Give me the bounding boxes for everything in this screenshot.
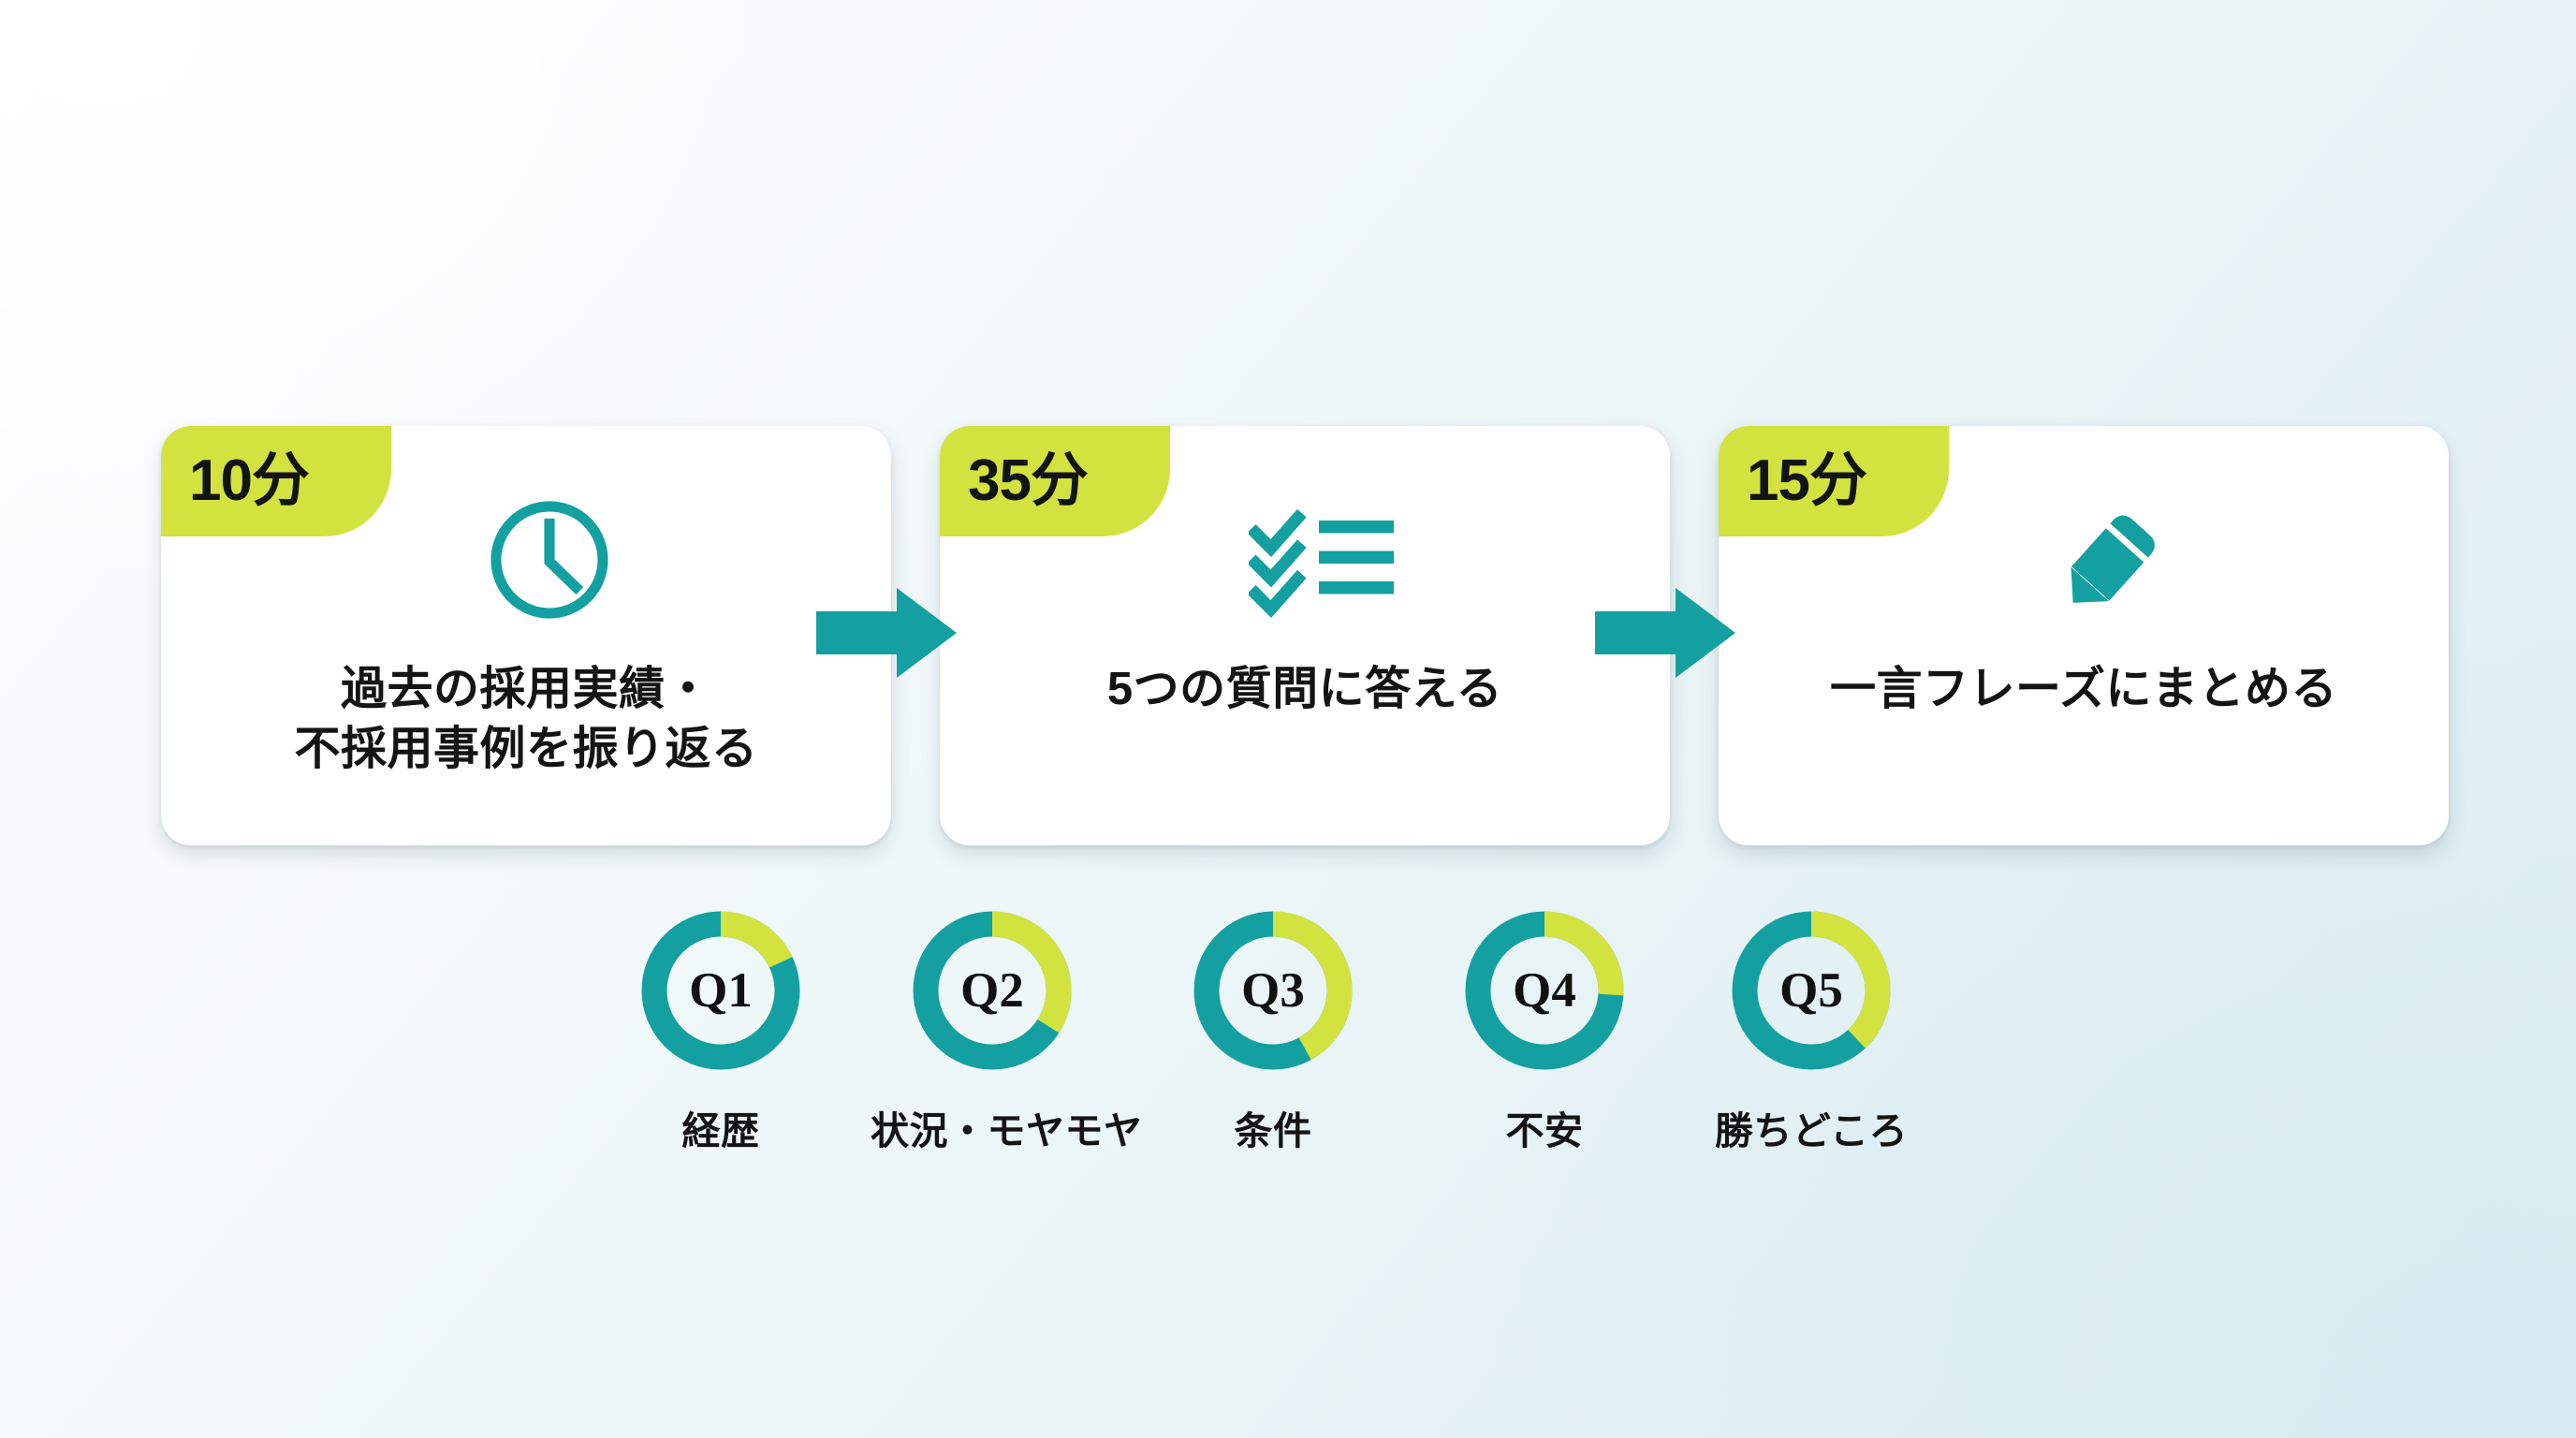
question-item-q3[interactable]: Q3 条件 [1151,906,1395,1155]
question-number-q1: Q1 [637,906,805,1075]
question-number-q4: Q4 [1460,906,1629,1075]
step-line: 過去の採用実績・ [195,660,857,720]
steps-row: 10分 過去の採用実績・ 不採用事例を振り返る 35分 [0,426,2576,857]
step-icon-wrap-3 [1719,482,2449,641]
step-icon-wrap-2 [940,482,1670,641]
progress-ring-q2: Q2 [908,906,1076,1075]
pencil-icon [2048,496,2175,628]
step-line: 5つの質問に答える [973,660,1636,720]
question-number-q3: Q3 [1189,906,1357,1075]
step-line: 不採用事例を振り返る [195,720,857,780]
step-icon-wrap-1 [161,482,891,641]
question-number-q2: Q2 [908,906,1076,1075]
progress-ring-q1: Q1 [637,906,805,1075]
question-item-q2[interactable]: Q2 状況・モヤモヤ [871,906,1114,1155]
question-item-q5[interactable]: Q5 勝ちどころ [1690,906,1933,1155]
clock-icon [480,491,619,634]
arrow-right-icon [1595,580,1735,685]
question-label-q5: 勝ちどころ [1690,1099,1933,1155]
question-item-q1[interactable]: Q1 経歴 [599,906,842,1155]
questions-row: Q1 経歴 Q2 状況・モヤモヤ Q3 条件 [0,906,2576,1187]
arrow-right-icon [816,580,957,685]
question-label-q1: 経歴 [599,1099,842,1155]
step-card-1[interactable]: 10分 過去の採用実績・ 不採用事例を振り返る [161,426,891,845]
progress-ring-q3: Q3 [1189,906,1357,1075]
step-text-3: 一言フレーズにまとめる [1719,660,2449,720]
slide-canvas: 10分 過去の採用実績・ 不採用事例を振り返る 35分 [0,0,2576,1438]
step-line: 一言フレーズにまとめる [1752,660,2415,720]
question-number-q5: Q5 [1727,906,1895,1075]
question-label-q3: 条件 [1151,1099,1395,1155]
step-text-1: 過去の採用実績・ 不採用事例を振り返る [161,660,891,779]
question-item-q4[interactable]: Q4 不安 [1423,906,1666,1155]
checklist-icon [1249,501,1398,624]
progress-ring-q4: Q4 [1460,906,1629,1075]
step-card-2[interactable]: 35分 5つの質問に答える [940,426,1670,845]
step-text-2: 5つの質問に答える [940,660,1670,720]
question-label-q2: 状況・モヤモヤ [871,1099,1114,1155]
step-card-3[interactable]: 15分 一言フレーズにまとめる [1719,426,2449,845]
progress-ring-q5: Q5 [1727,906,1895,1075]
question-label-q4: 不安 [1423,1099,1666,1155]
